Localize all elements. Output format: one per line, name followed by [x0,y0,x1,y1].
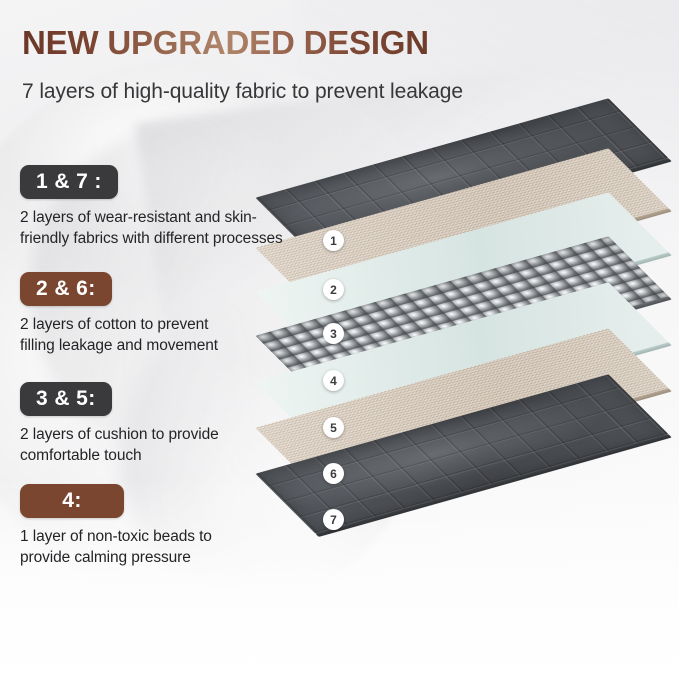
page-title: NEW UPGRADED DESIGN [22,26,429,59]
info-block-layers-1-7: 1 & 7 : 2 layers of wear-resistant and s… [20,165,283,250]
layer-number-1: 1 [323,230,344,251]
layer-number-4: 4 [323,370,344,391]
badge-layers-1-7: 1 & 7 : [20,165,118,199]
layer-number-6: 6 [323,463,344,484]
description-layers-2-6: 2 layers of cotton to prevent filling le… [20,315,218,357]
description-layer-4: 1 layer of non-toxic beads to provide ca… [20,527,212,569]
layer-stack-diagram [262,120,679,620]
badge-layers-2-6: 2 & 6: [20,272,112,306]
page-subtitle: 7 layers of high-quality fabric to preve… [22,80,463,104]
info-block-layers-2-6: 2 & 6: 2 layers of cotton to prevent fil… [20,272,218,357]
info-block-layer-4: 4: 1 layer of non-toxic beads to provide… [20,484,212,569]
layer-number-2: 2 [323,279,344,300]
product-infographic: 1 2 3 4 5 6 7 NEW UPGRADED DESIGN 7 laye… [0,0,679,679]
description-layers-1-7: 2 layers of wear-resistant and skin- fri… [20,208,283,250]
layer-7-quilted-fabric [262,390,662,518]
badge-layers-3-5: 3 & 5: [20,382,112,416]
layer-number-5: 5 [323,417,344,438]
badge-layer-4: 4: [20,484,124,518]
info-block-layers-3-5: 3 & 5: 2 layers of cushion to provide co… [20,382,219,467]
description-layers-3-5: 2 layers of cushion to provide comfortab… [20,425,219,467]
layer-number-7: 7 [323,509,344,530]
layer-number-3: 3 [323,323,344,344]
